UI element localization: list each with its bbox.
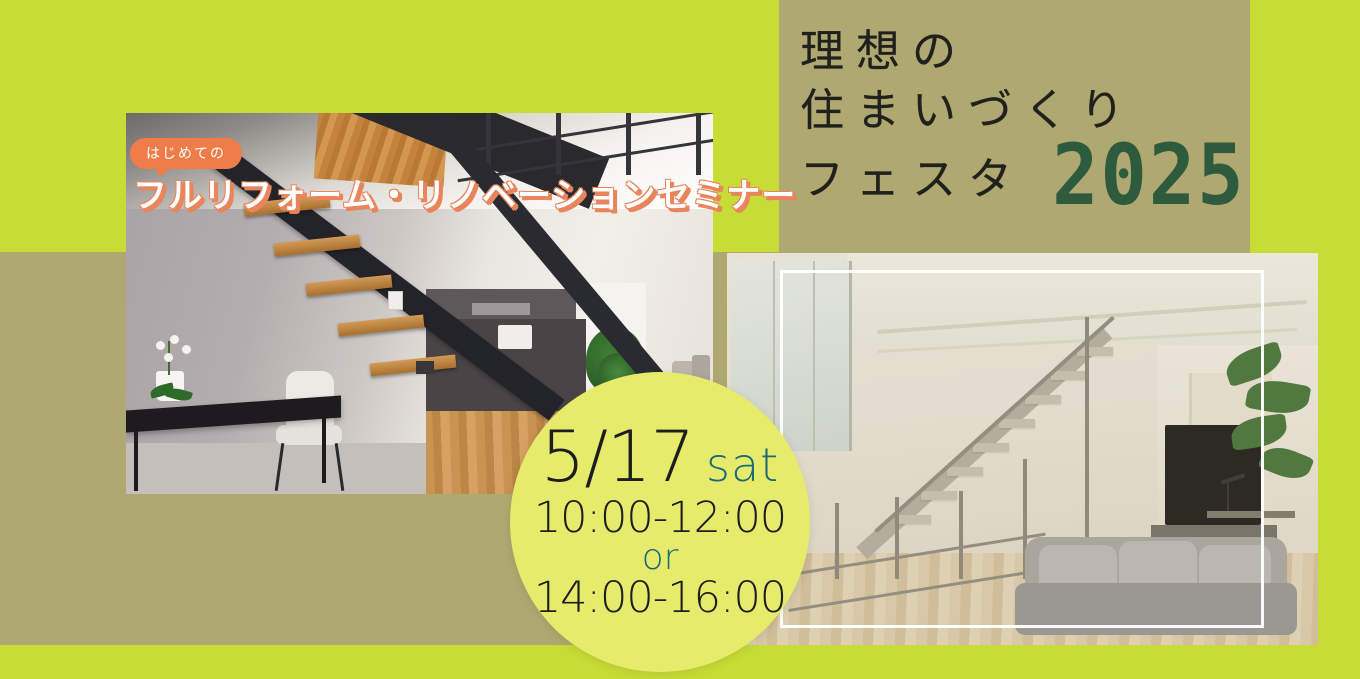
left-photo-microwave: [498, 325, 532, 349]
left-photo-wall-socket: [416, 361, 434, 374]
event-weekday: sat: [706, 442, 779, 488]
seminar-title: フルリフォーム・リノベーションセミナー: [133, 168, 796, 217]
left-photo-orchid-flower: [164, 353, 173, 362]
left-photo-chair-seat: [276, 425, 342, 445]
hajimete-badge: はじめての: [130, 138, 242, 169]
poster-canvas: はじめての フルリフォーム・リノベーションセミナー: [0, 0, 1360, 679]
date-row: 5/17 sat: [541, 422, 779, 492]
badge-label: はじめての: [146, 146, 226, 162]
left-photo-rail-post: [696, 113, 701, 175]
left-photo-rail-post: [556, 113, 561, 175]
left-photo-rail-post: [626, 113, 631, 175]
festival-title: 理想の 住まいづくり フェスタ 2025: [800, 22, 1262, 210]
left-photo-orchid-flower: [156, 341, 165, 350]
event-date: 5/17: [541, 422, 694, 492]
festival-title-line-1: 理想の: [800, 22, 1262, 81]
festival-title-line-3: フェスタ: [800, 150, 1024, 209]
left-photo-orchid-flower: [182, 345, 191, 354]
left-photo-orchid-flower: [170, 335, 179, 344]
festival-year: 2025: [1052, 141, 1245, 210]
interior-stair-living-photo: [727, 253, 1318, 645]
festival-title-row-3: フェスタ 2025: [800, 141, 1262, 210]
time-conjunction: or: [642, 540, 679, 576]
time-slot-2: 14:00-16:00: [534, 574, 786, 622]
right-photo-white-frame: [780, 270, 1264, 628]
left-photo-table-leg: [134, 421, 138, 491]
time-slot-1: 10:00-12:00: [534, 494, 786, 542]
date-circle: 5/17 sat 10:00-12:00 or 14:00-16:00: [510, 372, 810, 672]
left-photo-light-switch: [388, 291, 403, 310]
left-photo-table-leg: [322, 413, 326, 483]
left-photo-range-hood: [472, 303, 530, 315]
